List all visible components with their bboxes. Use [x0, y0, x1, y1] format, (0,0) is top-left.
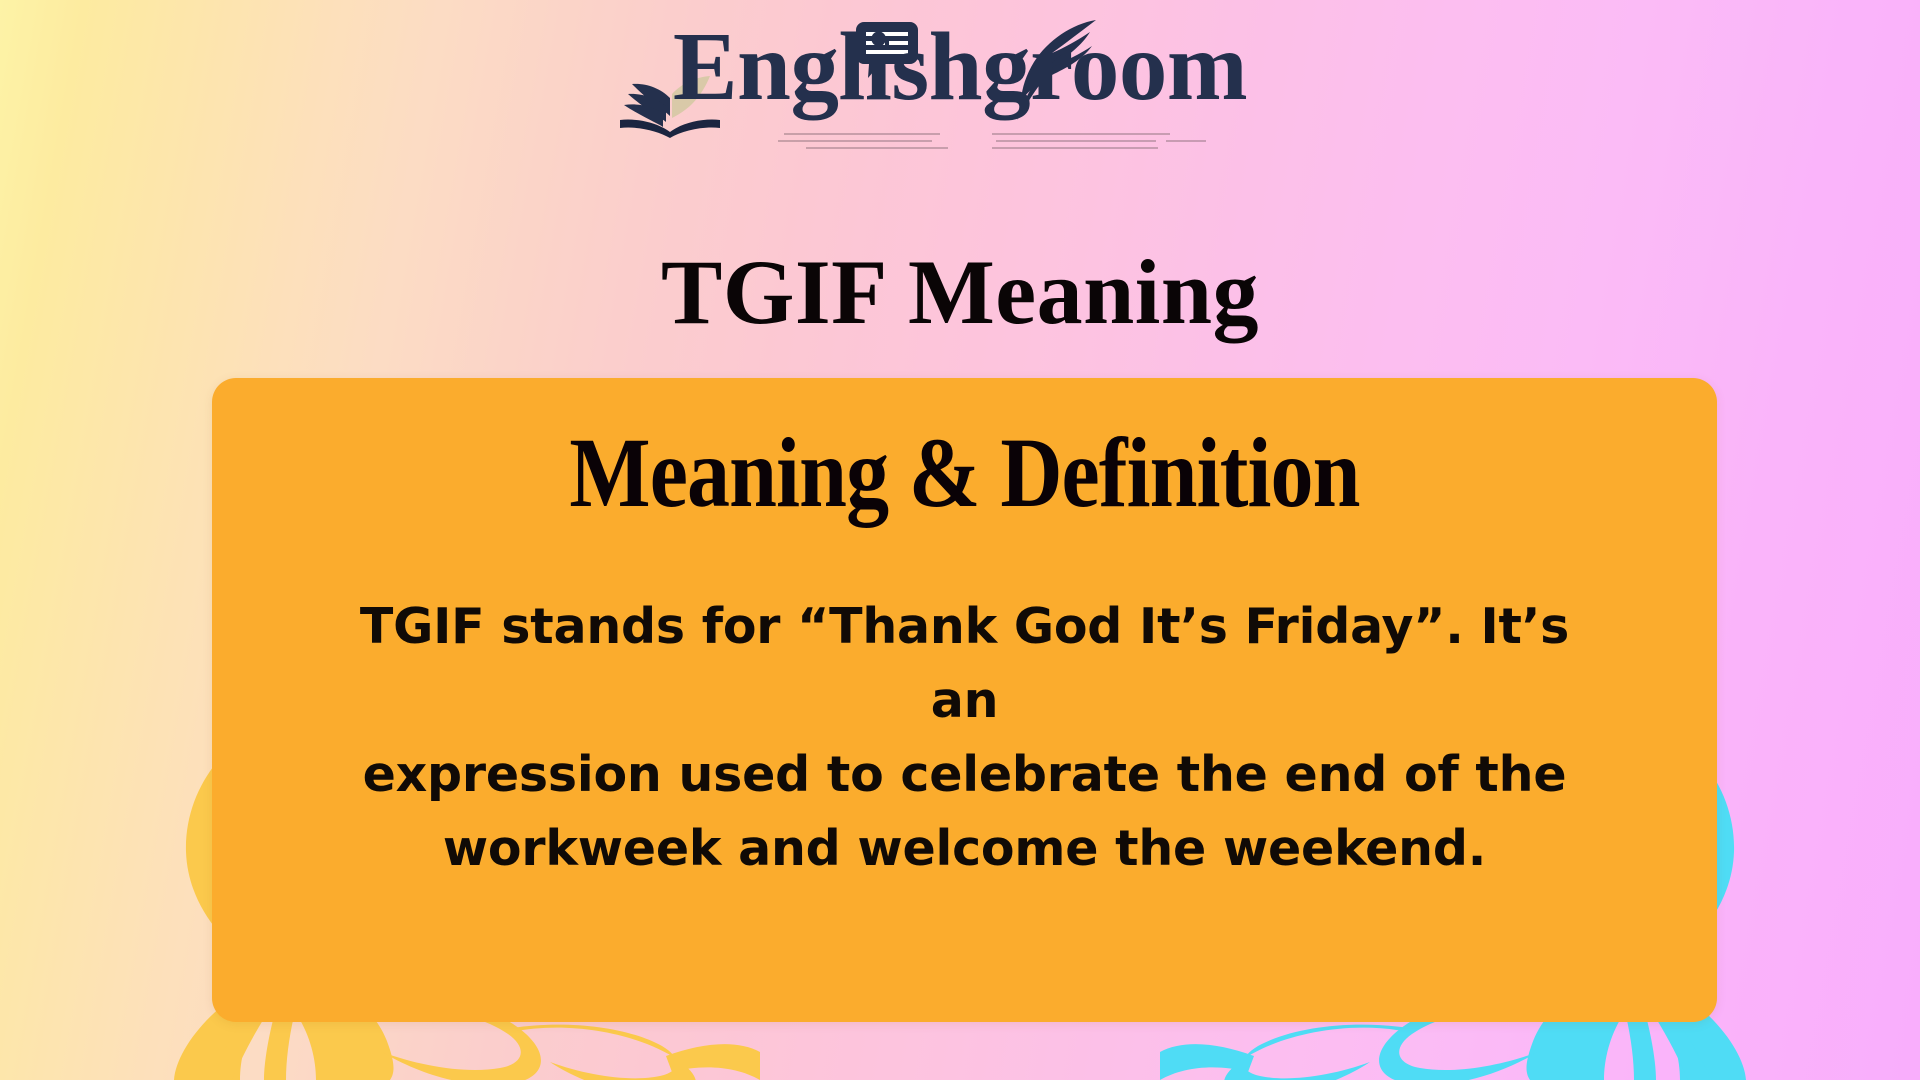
card-heading: Meaning & Definition: [317, 420, 1611, 525]
definition-card: Meaning & Definition TGIF stands for “Th…: [212, 378, 1717, 1022]
page-title: TGIF Meaning: [0, 244, 1920, 341]
body-line-3: workweek and welcome the weekend.: [320, 812, 1609, 886]
site-logo[interactable]: Englishgroom: [0, 8, 1920, 148]
logo-underline-rules: [610, 130, 1310, 156]
body-line-1: TGIF stands for “Thank God It’s Friday”.…: [320, 590, 1609, 738]
body-line-2: expression used to celebrate the end of …: [320, 738, 1609, 812]
poster-canvas: Englishgroom TGIF Meaning Meaning & Defi…: [0, 0, 1920, 1080]
card-body-text: TGIF stands for “Thank God It’s Friday”.…: [320, 590, 1609, 886]
brand-name: Englishgroom: [610, 16, 1310, 118]
